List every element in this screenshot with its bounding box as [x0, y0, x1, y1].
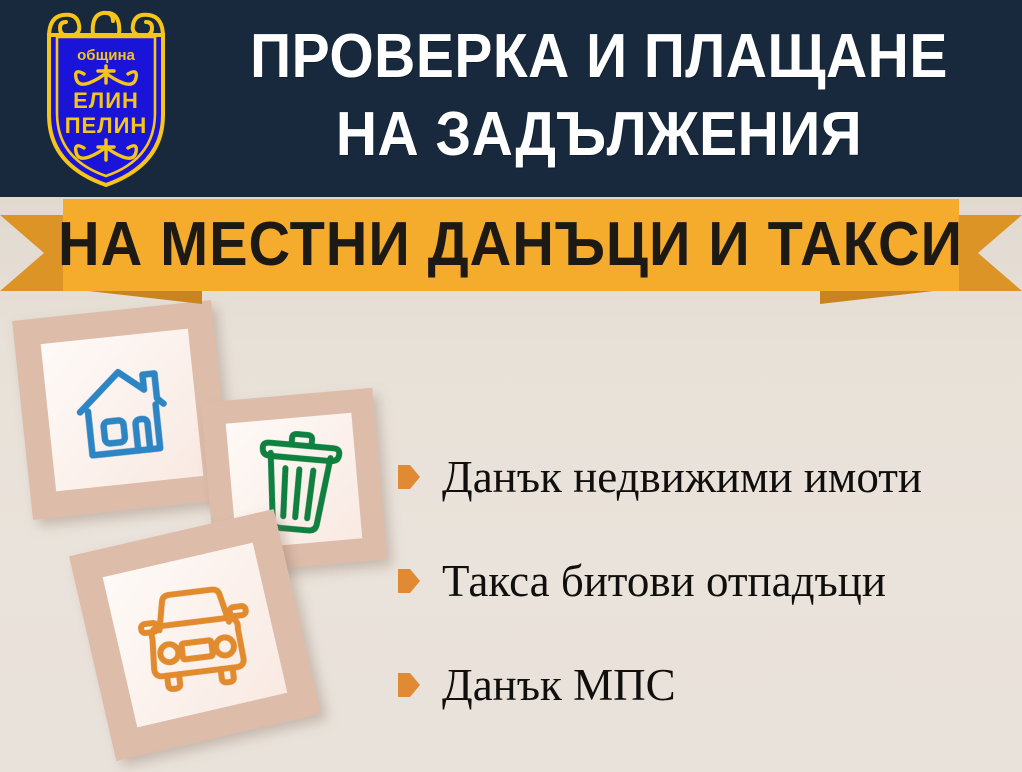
- stamp-collage: [0, 290, 420, 772]
- crest-top-label: община: [77, 47, 135, 64]
- arrow-bullet-icon: [398, 673, 420, 697]
- crest-name-line1: ЕЛИН: [73, 88, 139, 113]
- stamp-house-graphic: [12, 300, 232, 520]
- title-line-2: НА ЗАДЪЛЖЕНИЯ: [223, 96, 976, 174]
- list-item[interactable]: Данък МПС: [398, 633, 1018, 737]
- page-title: ПРОВЕРКА И ПЛАЩАНЕ НА ЗАДЪЛЖЕНИЯ: [190, 18, 1008, 174]
- stamp-card-house: [12, 300, 232, 520]
- title-line-1: ПРОВЕРКА И ПЛАЩАНЕ: [223, 18, 976, 96]
- list-item[interactable]: Такса битови отпадъци: [398, 529, 1018, 633]
- coat-of-arms: община ЕЛИН ПЕЛИН: [27, 7, 185, 190]
- list-item-label: Данък недвижими имоти: [442, 452, 922, 502]
- arrow-bullet-icon: [398, 569, 420, 593]
- list-item[interactable]: Данък недвижими имоти: [398, 425, 1018, 529]
- subtitle-ribbon: НА МЕСТНИ ДАНЪЦИ И ТАКСИ: [0, 199, 1022, 307]
- ribbon-label: НА МЕСТНИ ДАНЪЦИ И ТАКСИ: [59, 214, 964, 276]
- ribbon-center: НА МЕСТНИ ДАНЪЦИ И ТАКСИ: [63, 199, 959, 291]
- poster-canvas: община ЕЛИН ПЕЛИН ПРОВЕРКА И ПЛАЩАНЕ НА …: [0, 0, 1022, 772]
- crest-name-line2: ПЕЛИН: [65, 113, 148, 138]
- arrow-bullet-icon: [398, 465, 420, 489]
- list-item-label: Такса битови отпадъци: [442, 556, 886, 606]
- header-bar: община ЕЛИН ПЕЛИН ПРОВЕРКА И ПЛАЩАНЕ НА …: [0, 0, 1022, 197]
- list-item-label: Данък МПС: [442, 660, 676, 710]
- tax-type-list: Данък недвижими имоти Такса битови отпад…: [398, 425, 1018, 737]
